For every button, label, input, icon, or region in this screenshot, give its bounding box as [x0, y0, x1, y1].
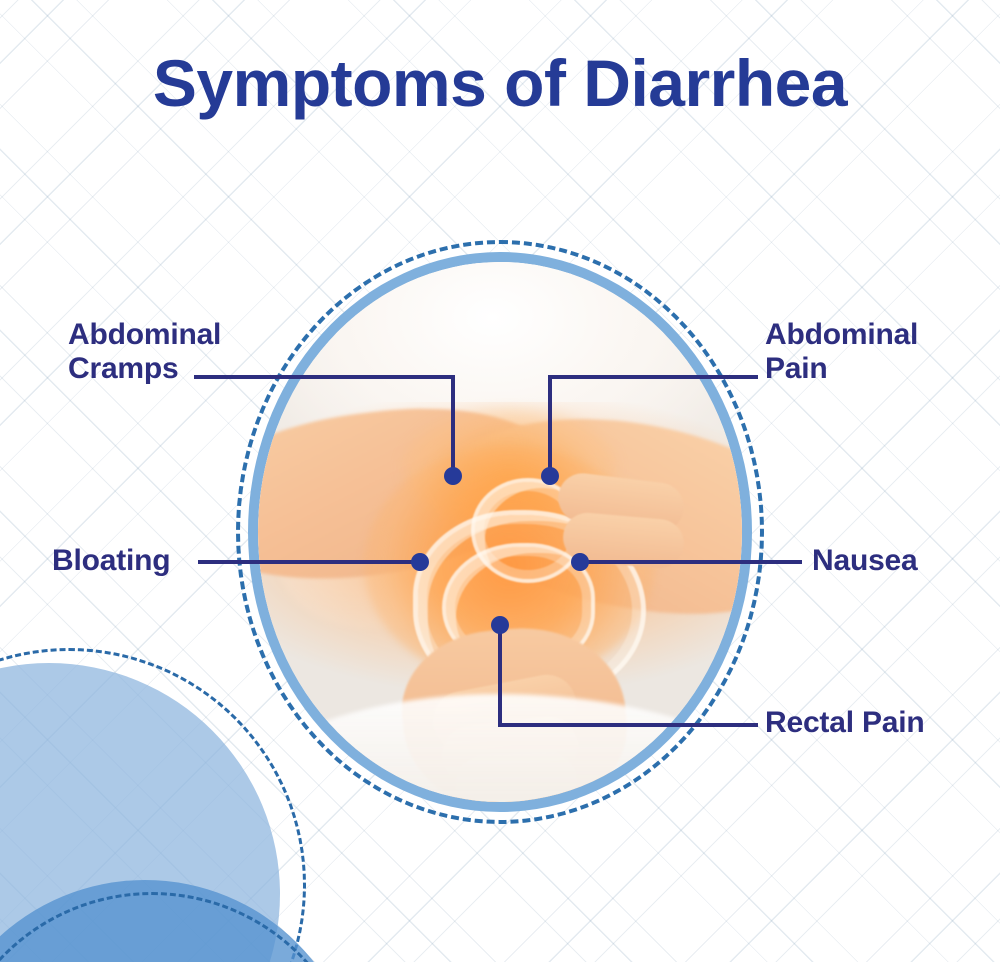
- page-title: Symptoms of Diarrhea: [0, 45, 1000, 121]
- photo-finger-upper-2: [561, 511, 686, 570]
- decorative-circle-light: [0, 663, 280, 962]
- label-abdominal-cramps: Abdominal Cramps: [68, 318, 221, 386]
- infographic-canvas: Symptoms of Diarrhea: [0, 0, 1000, 962]
- decorative-dashed-arc-inner: [0, 892, 362, 962]
- label-abdominal-pain: Abdominal Pain: [765, 318, 918, 386]
- label-bloating: Bloating: [52, 544, 170, 578]
- label-rectal-pain: Rectal Pain: [765, 706, 925, 740]
- photo-blue-ring: [248, 252, 752, 812]
- decorative-circle-dark: [0, 880, 360, 962]
- photo-image: [258, 262, 742, 802]
- central-photo: [248, 252, 752, 812]
- label-nausea: Nausea: [812, 544, 918, 578]
